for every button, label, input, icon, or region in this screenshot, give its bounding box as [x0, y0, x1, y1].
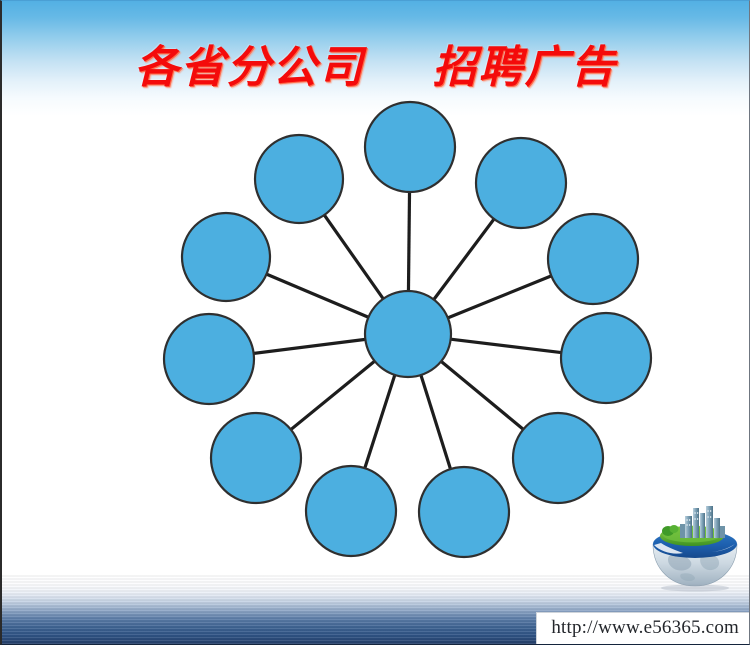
branch-node-7[interactable]	[561, 313, 651, 403]
branch-node-6[interactable]	[164, 314, 254, 404]
branch-node-8[interactable]	[211, 413, 301, 503]
spoke-line-11	[421, 374, 451, 470]
branch-node-11[interactable]	[419, 467, 509, 557]
spoke-line-3	[433, 218, 494, 300]
globe-city-logo-icon	[647, 500, 743, 592]
slide-canvas: 各省分公司 招聘广告	[0, 0, 750, 645]
branch-node-2[interactable]	[255, 135, 343, 223]
spoke-line-8	[290, 361, 375, 431]
branch-node-1[interactable]	[365, 102, 455, 192]
branch-node-4[interactable]	[182, 213, 270, 301]
spoke-line-7	[450, 339, 563, 353]
center-node-group	[365, 291, 451, 377]
branch-node-5[interactable]	[548, 214, 638, 304]
watermark-url: http://www.e56365.com	[551, 617, 739, 638]
branch-node-9[interactable]	[513, 413, 603, 503]
branch-node-3[interactable]	[476, 138, 566, 228]
branch-node-10[interactable]	[306, 466, 396, 556]
spoke-line-6	[253, 339, 367, 353]
spoke-line-1	[408, 191, 409, 292]
center-hub-node[interactable]	[365, 291, 451, 377]
spoke-line-4	[266, 274, 370, 318]
spoke-line-9	[440, 361, 524, 430]
watermark-box: http://www.e56365.com	[536, 612, 749, 644]
spoke-line-5	[447, 276, 552, 319]
hub-and-spoke-diagram	[2, 1, 750, 645]
spoke-line-10	[364, 374, 395, 469]
spoke-line-2	[324, 214, 384, 299]
